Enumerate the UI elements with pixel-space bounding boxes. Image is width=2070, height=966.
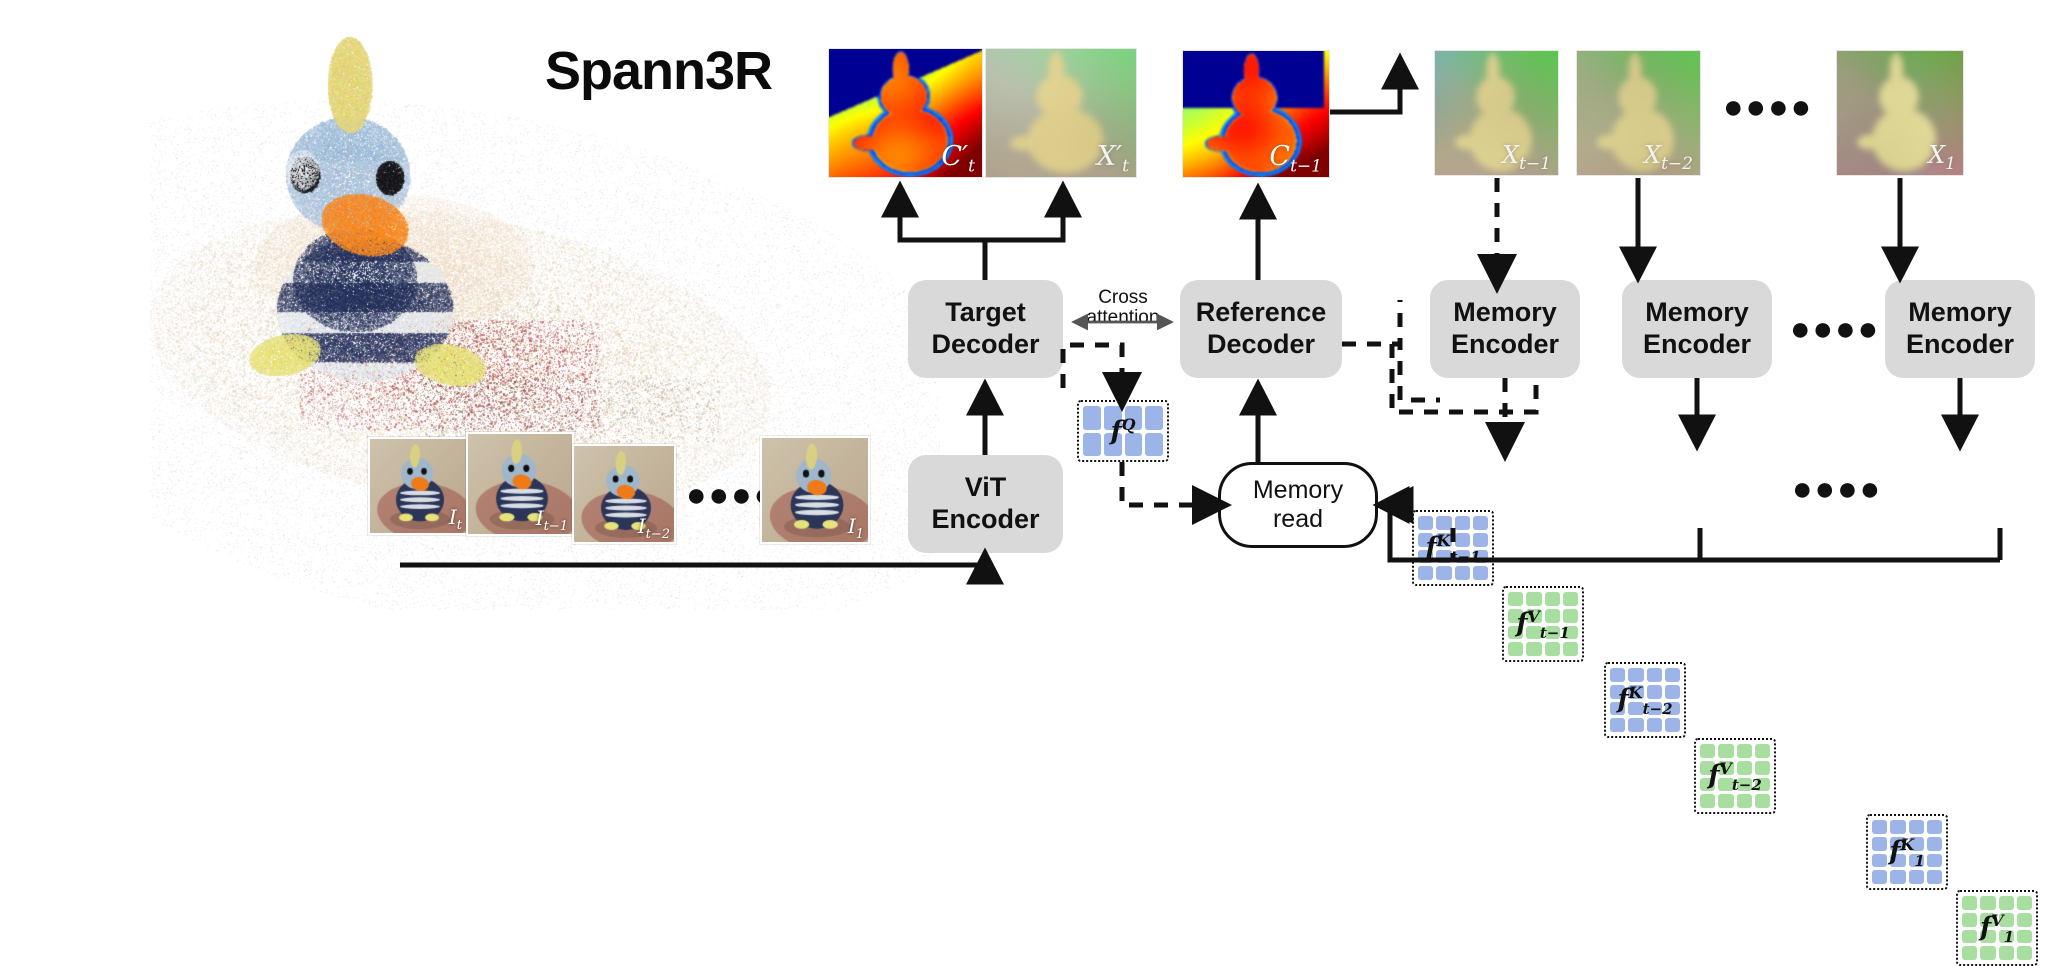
input-image-t-minus-2-label: It−2 [638,516,670,541]
token-cell [1083,406,1101,430]
token-cell [1083,433,1101,457]
key-feature-token-t-minus-2: fKt−2 [1604,662,1686,738]
input-image-t-label: It [449,507,462,532]
figure-canvas: Spann3R C′t X′t Ct−1 Xt−1 Xt−2 ●●●● [0,0,2070,632]
input-image-t: It [368,437,468,535]
memory-encoder-block-3[interactable]: Memory Encoder [1885,280,2035,378]
pointmap-1: X1 [1836,50,1964,176]
input-image-1: I1 [760,436,870,544]
value-feature-token-t-minus-1: fVt−1 [1502,586,1584,662]
input-image-t-minus-2: It−2 [572,444,676,544]
token-cell [1125,406,1143,430]
key-feature-token-t-minus-1: fKt−1 [1412,510,1494,586]
confidence-map-target-label: C′t [941,143,975,175]
input-image-1-label: I1 [848,516,864,541]
memory-encoder-block-2[interactable]: Memory Encoder [1622,280,1772,378]
input-image-t-minus-1-label: It−1 [536,508,568,533]
ellipsis-top-maps: ●●●● [1723,90,1813,124]
pointmap-t-minus-1: Xt−1 [1434,50,1559,176]
pointmap-t-minus-2-label: Xt−2 [1644,143,1693,173]
pointmap-t-minus-2: Xt−2 [1576,50,1701,176]
key-feature-token-1: fK1 [1866,814,1948,890]
input-image-t-minus-1: It−1 [466,432,574,536]
pointmap-1-label: X1 [1928,143,1956,173]
value-feature-token-1: fV1 [1956,890,2038,966]
ellipsis-memory-encoders: ●●●● [1790,312,1880,346]
confidence-map-target: C′t [828,48,983,178]
token-cell [1104,433,1122,457]
reference-decoder-block[interactable]: Reference Decoder [1180,280,1342,378]
query-feature-token: fQ [1077,400,1169,462]
memory-read-block[interactable]: Memory read [1218,462,1378,548]
token-cell [1145,433,1163,457]
token-cell [1104,406,1122,430]
target-decoder-block[interactable]: Target Decoder [908,280,1063,378]
memory-encoder-block-1[interactable]: Memory Encoder [1430,280,1580,378]
vit-encoder-block[interactable]: ViT Encoder [908,455,1063,553]
confidence-map-reference-label: Ct−1 [1269,143,1322,175]
confidence-map-reference: Ct−1 [1182,50,1330,178]
pointmap-target: X′t [985,48,1137,178]
value-feature-token-t-minus-2: fVt−2 [1694,738,1776,814]
page-title: Spann3R [545,40,772,102]
pointmap-t-minus-1-label: Xt−1 [1502,143,1551,173]
pointmap-target-label: X′t [1097,143,1129,175]
cross-attention-caption: Cross attention [1068,288,1178,328]
ellipsis-memory-tokens: ●●●● [1792,472,1882,506]
token-cell [1125,433,1143,457]
token-cell [1145,406,1163,430]
